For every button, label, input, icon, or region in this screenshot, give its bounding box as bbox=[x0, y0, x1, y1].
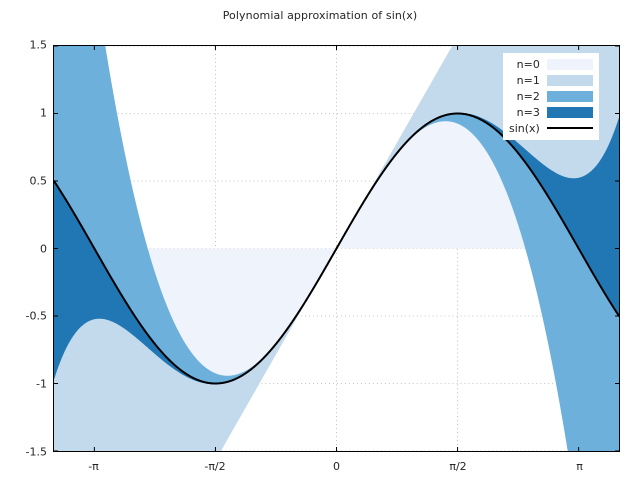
y-axis-tick-labels: 1.510.50-0.5-1-1.5 bbox=[0, 0, 47, 480]
legend-label: n=3 bbox=[517, 106, 547, 119]
legend-item-n-0[interactable]: n=0 bbox=[509, 56, 593, 72]
legend-color-swatch bbox=[547, 91, 593, 102]
legend-label: n=2 bbox=[517, 90, 547, 103]
y-tick-label-0: 1.5 bbox=[1, 39, 47, 52]
x-tick-label-1: -π/2 bbox=[180, 460, 250, 473]
legend-label: n=0 bbox=[517, 58, 547, 71]
y-tick-label-1: 1 bbox=[1, 106, 47, 119]
y-tick-label-6: -1.5 bbox=[1, 446, 47, 459]
chart-title: Polynomial approximation of sin(x) bbox=[0, 9, 640, 22]
legend[interactable]: n=0n=1n=2n=3sin(x) bbox=[503, 53, 599, 140]
legend-item-n-1[interactable]: n=1 bbox=[509, 72, 593, 88]
legend-label: n=1 bbox=[517, 74, 547, 87]
legend-color-swatch bbox=[547, 75, 593, 86]
legend-label: sin(x) bbox=[509, 122, 547, 135]
x-tick-label-0: -π bbox=[59, 460, 129, 473]
y-tick-label-5: -1 bbox=[1, 378, 47, 391]
legend-line-sample bbox=[547, 123, 593, 134]
x-tick-label-2: 0 bbox=[302, 460, 372, 473]
x-tick-label-3: π/2 bbox=[423, 460, 493, 473]
legend-item-n-2[interactable]: n=2 bbox=[509, 88, 593, 104]
legend-color-swatch bbox=[547, 107, 593, 118]
x-axis-tick-labels: -π-π/20π/2π bbox=[0, 460, 640, 478]
figure: Polynomial approximation of sin(x) 1.510… bbox=[0, 0, 640, 480]
legend-color-swatch bbox=[547, 59, 593, 70]
x-tick-label-4: π bbox=[545, 460, 615, 473]
y-tick-label-3: 0 bbox=[1, 242, 47, 255]
y-tick-label-4: -0.5 bbox=[1, 310, 47, 323]
legend-item-sin-x-[interactable]: sin(x) bbox=[509, 120, 593, 136]
y-tick-label-2: 0.5 bbox=[1, 174, 47, 187]
legend-item-n-3[interactable]: n=3 bbox=[509, 104, 593, 120]
